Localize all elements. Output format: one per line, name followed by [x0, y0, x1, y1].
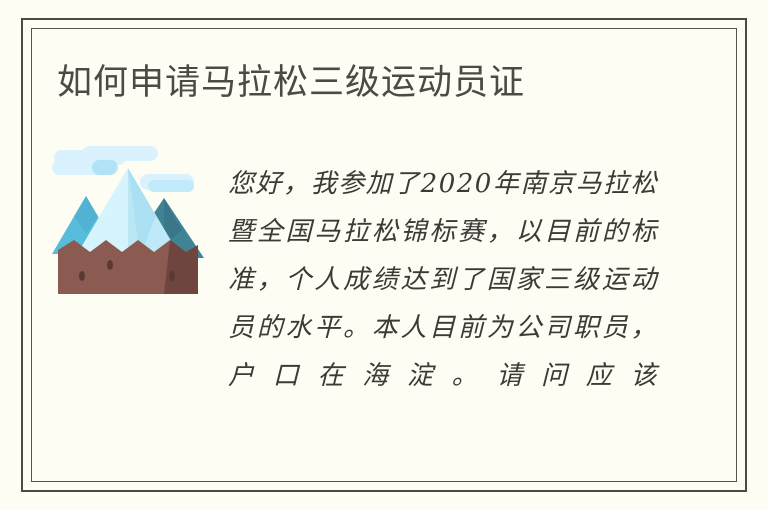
article-card: 如何申请马拉松三级运动员证: [0, 0, 768, 510]
mountain-illustration: [52, 146, 204, 304]
rock-dot: [107, 260, 113, 270]
rock-dot: [169, 271, 175, 281]
article-body: 您好，我参加了2020年南京马拉松暨全国马拉松锦标赛，以目前的标准，个人成绩达到…: [228, 160, 658, 448]
page-title: 如何申请马拉松三级运动员证: [57, 61, 525, 105]
mountain-icon: [52, 146, 204, 304]
rock-dot: [79, 271, 85, 281]
